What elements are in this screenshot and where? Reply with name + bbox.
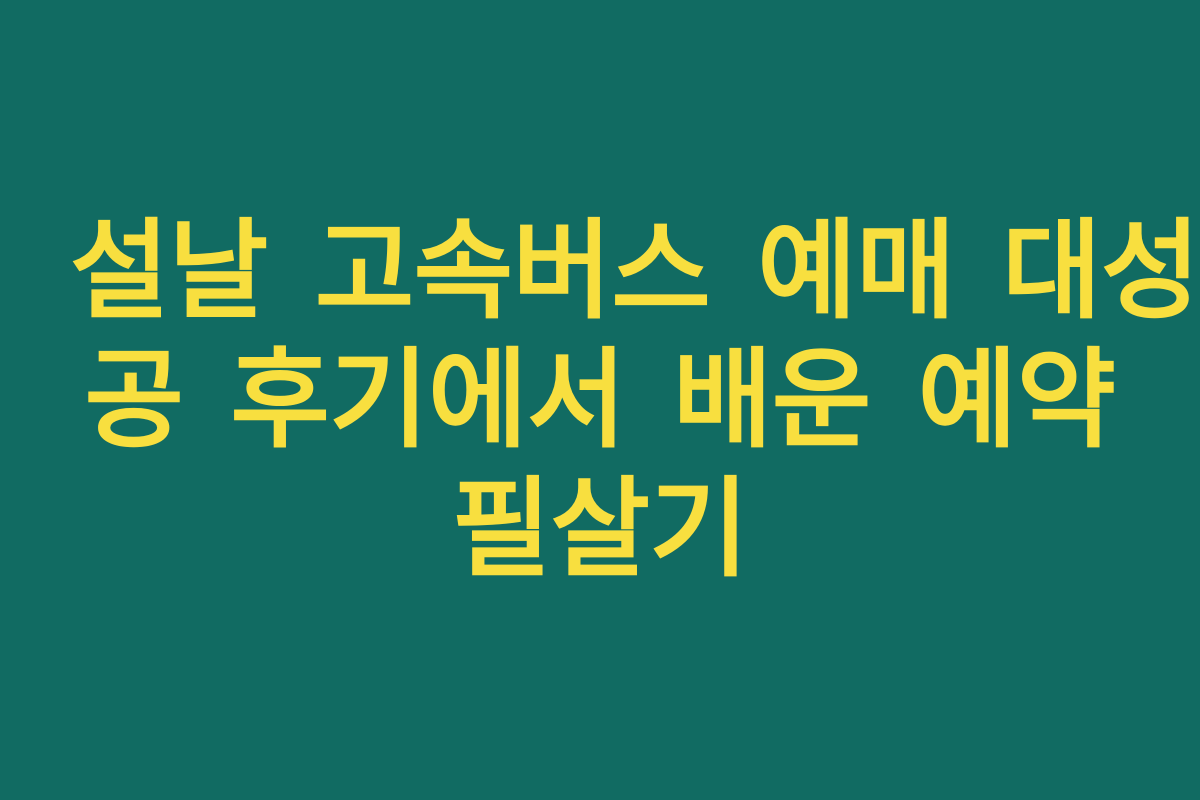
page-title: 설날 고속버스 예매 대성 공 후기에서 배운 예약 필살기 — [70, 207, 1130, 594]
headline-line-3: 필살기 — [70, 465, 1130, 594]
headline-line-1: 설날 고속버스 예매 대성 — [70, 207, 1130, 336]
thumbnail-card: 설날 고속버스 예매 대성 공 후기에서 배운 예약 필살기 — [0, 0, 1200, 800]
headline-line-2: 공 후기에서 배운 예약 — [70, 336, 1130, 465]
